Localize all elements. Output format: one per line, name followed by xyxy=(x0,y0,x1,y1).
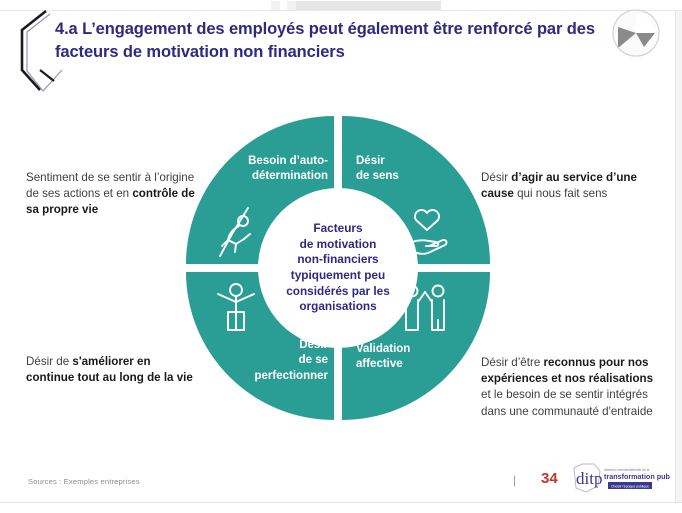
callout-bottom-right: Désir d’être reconnus pour nos expérienc… xyxy=(481,355,657,420)
svg-text:transformation publique: transformation publique xyxy=(604,472,670,481)
person-arms-raised-icon xyxy=(208,280,264,336)
toolbar-field[interactable] xyxy=(296,1,441,10)
callout-bottom-left: Désir de s'améliorer en continue tout au… xyxy=(26,354,198,386)
page-separator: | xyxy=(513,473,516,487)
quadrant-label-bottom-right: Validation affective xyxy=(356,342,468,373)
callout-top-left: Sentiment de se sentir à l’origine de se… xyxy=(26,170,198,219)
callout-bottom-right-plain-1: Désir d’être xyxy=(481,356,544,369)
svg-text:ditp: ditp xyxy=(576,469,602,488)
callout-top-right-plain-2: qui nous fait sens xyxy=(514,187,607,200)
ditp-logo: ditp direction interministérielle de la … xyxy=(572,462,670,494)
svg-text:Choisir l'époque publique: Choisir l'époque publique xyxy=(611,485,649,489)
climbing-person-icon xyxy=(208,204,264,260)
frame-right-scrollbar[interactable] xyxy=(675,11,682,502)
wheel-hub: Facteurs de motivation non-financiers ty… xyxy=(258,188,418,348)
app-toolbar xyxy=(0,0,682,11)
toolbar-icon-right[interactable] xyxy=(287,1,296,10)
quadrant-label-bottom-left: Désir de se perfectionner xyxy=(204,338,328,384)
slide-canvas: 4.a L’engagement des employés peut égale… xyxy=(0,0,682,513)
frame-bottom-edge xyxy=(0,502,682,513)
quadrant-label-top-left: Besoin d’auto- détermination xyxy=(216,154,328,185)
callout-bottom-left-plain-1: Désir de xyxy=(26,355,72,368)
wheel-hub-text: Facteurs de motivation non-financiers ty… xyxy=(278,221,398,315)
page-number: 34 xyxy=(541,470,558,487)
toolbar-icon-left[interactable] xyxy=(271,1,280,10)
callout-bottom-right-plain-2: et le besoin de se sentir intégrés dans … xyxy=(481,388,653,417)
quadrant-label-top-right: Désir de sens xyxy=(356,154,466,185)
motivation-wheel: Besoin d’auto- détermination Désir de se… xyxy=(186,116,490,420)
page-title: 4.a L’engagement des employés peut égale… xyxy=(55,18,595,65)
callout-top-right-plain-1: Désir xyxy=(481,171,511,184)
frame-left-edge xyxy=(0,11,3,502)
pie-dial-icon xyxy=(608,7,664,59)
callout-top-right: Désir d’agir au service d’une cause qui … xyxy=(481,170,657,202)
sources-note: Sources : Exemples entreprises xyxy=(28,477,140,486)
